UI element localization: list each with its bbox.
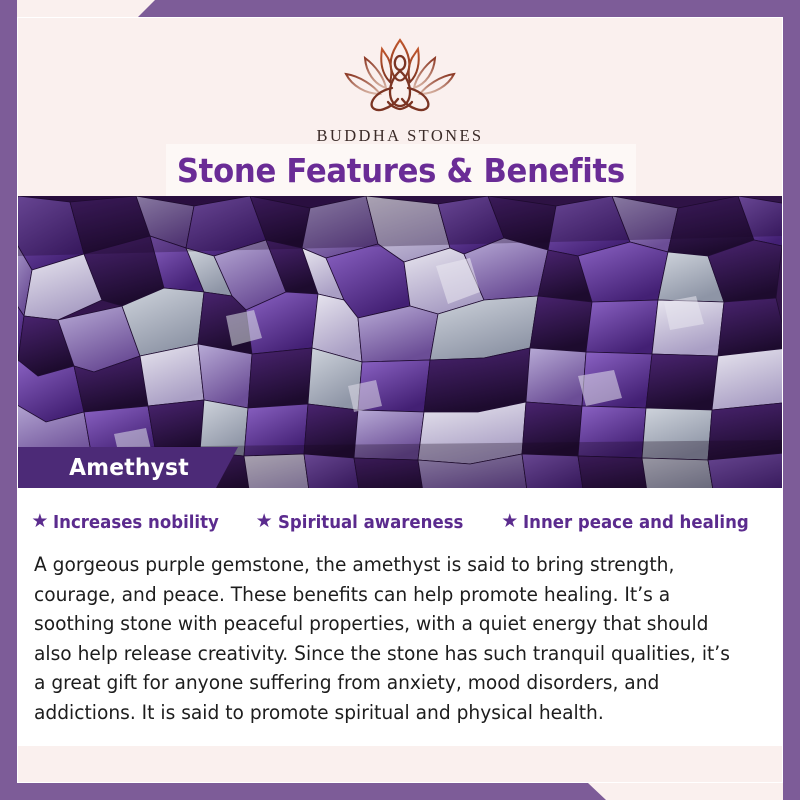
header-section: BUDDHA STONES Stone Features & Benefits	[18, 18, 782, 196]
benefit-label: Increases nobility	[53, 512, 219, 533]
infographic-page: BUDDHA STONES Stone Features & Benefits	[0, 0, 800, 800]
page-title: Stone Features & Benefits	[177, 151, 625, 190]
bottom-background-fill	[18, 746, 782, 782]
benefit-label: Spiritual awareness	[278, 512, 463, 533]
star-icon: ★	[501, 512, 518, 531]
stone-name: Amethyst	[69, 455, 189, 481]
frame-border-right	[783, 0, 800, 800]
star-icon: ★	[256, 512, 273, 531]
amethyst-crystal-photo	[18, 196, 782, 488]
benefit-item-3: ★ Inner peace and healing	[501, 512, 768, 533]
lotus-meditation-figure-icon	[320, 32, 480, 124]
content-section: ★ Increases nobility ★ Spiritual awarene…	[18, 488, 782, 746]
page-title-band: Stone Features & Benefits	[166, 144, 636, 196]
benefit-item-2: ★ Spiritual awareness	[256, 512, 480, 533]
brand-logo: BUDDHA STONES	[18, 32, 782, 146]
benefit-label: Inner peace and healing	[523, 512, 749, 533]
stone-name-banner: Amethyst	[18, 447, 238, 488]
stone-description: A gorgeous purple gemstone, the amethyst…	[34, 550, 743, 727]
star-icon: ★	[31, 512, 48, 531]
benefits-list: ★ Increases nobility ★ Spiritual awarene…	[18, 512, 782, 533]
frame-border-top	[0, 0, 800, 17]
benefit-item-1: ★ Increases nobility	[31, 512, 233, 533]
brand-name: BUDDHA STONES	[316, 126, 483, 146]
frame-border-bottom	[0, 783, 800, 800]
frame-border-left	[0, 0, 17, 800]
